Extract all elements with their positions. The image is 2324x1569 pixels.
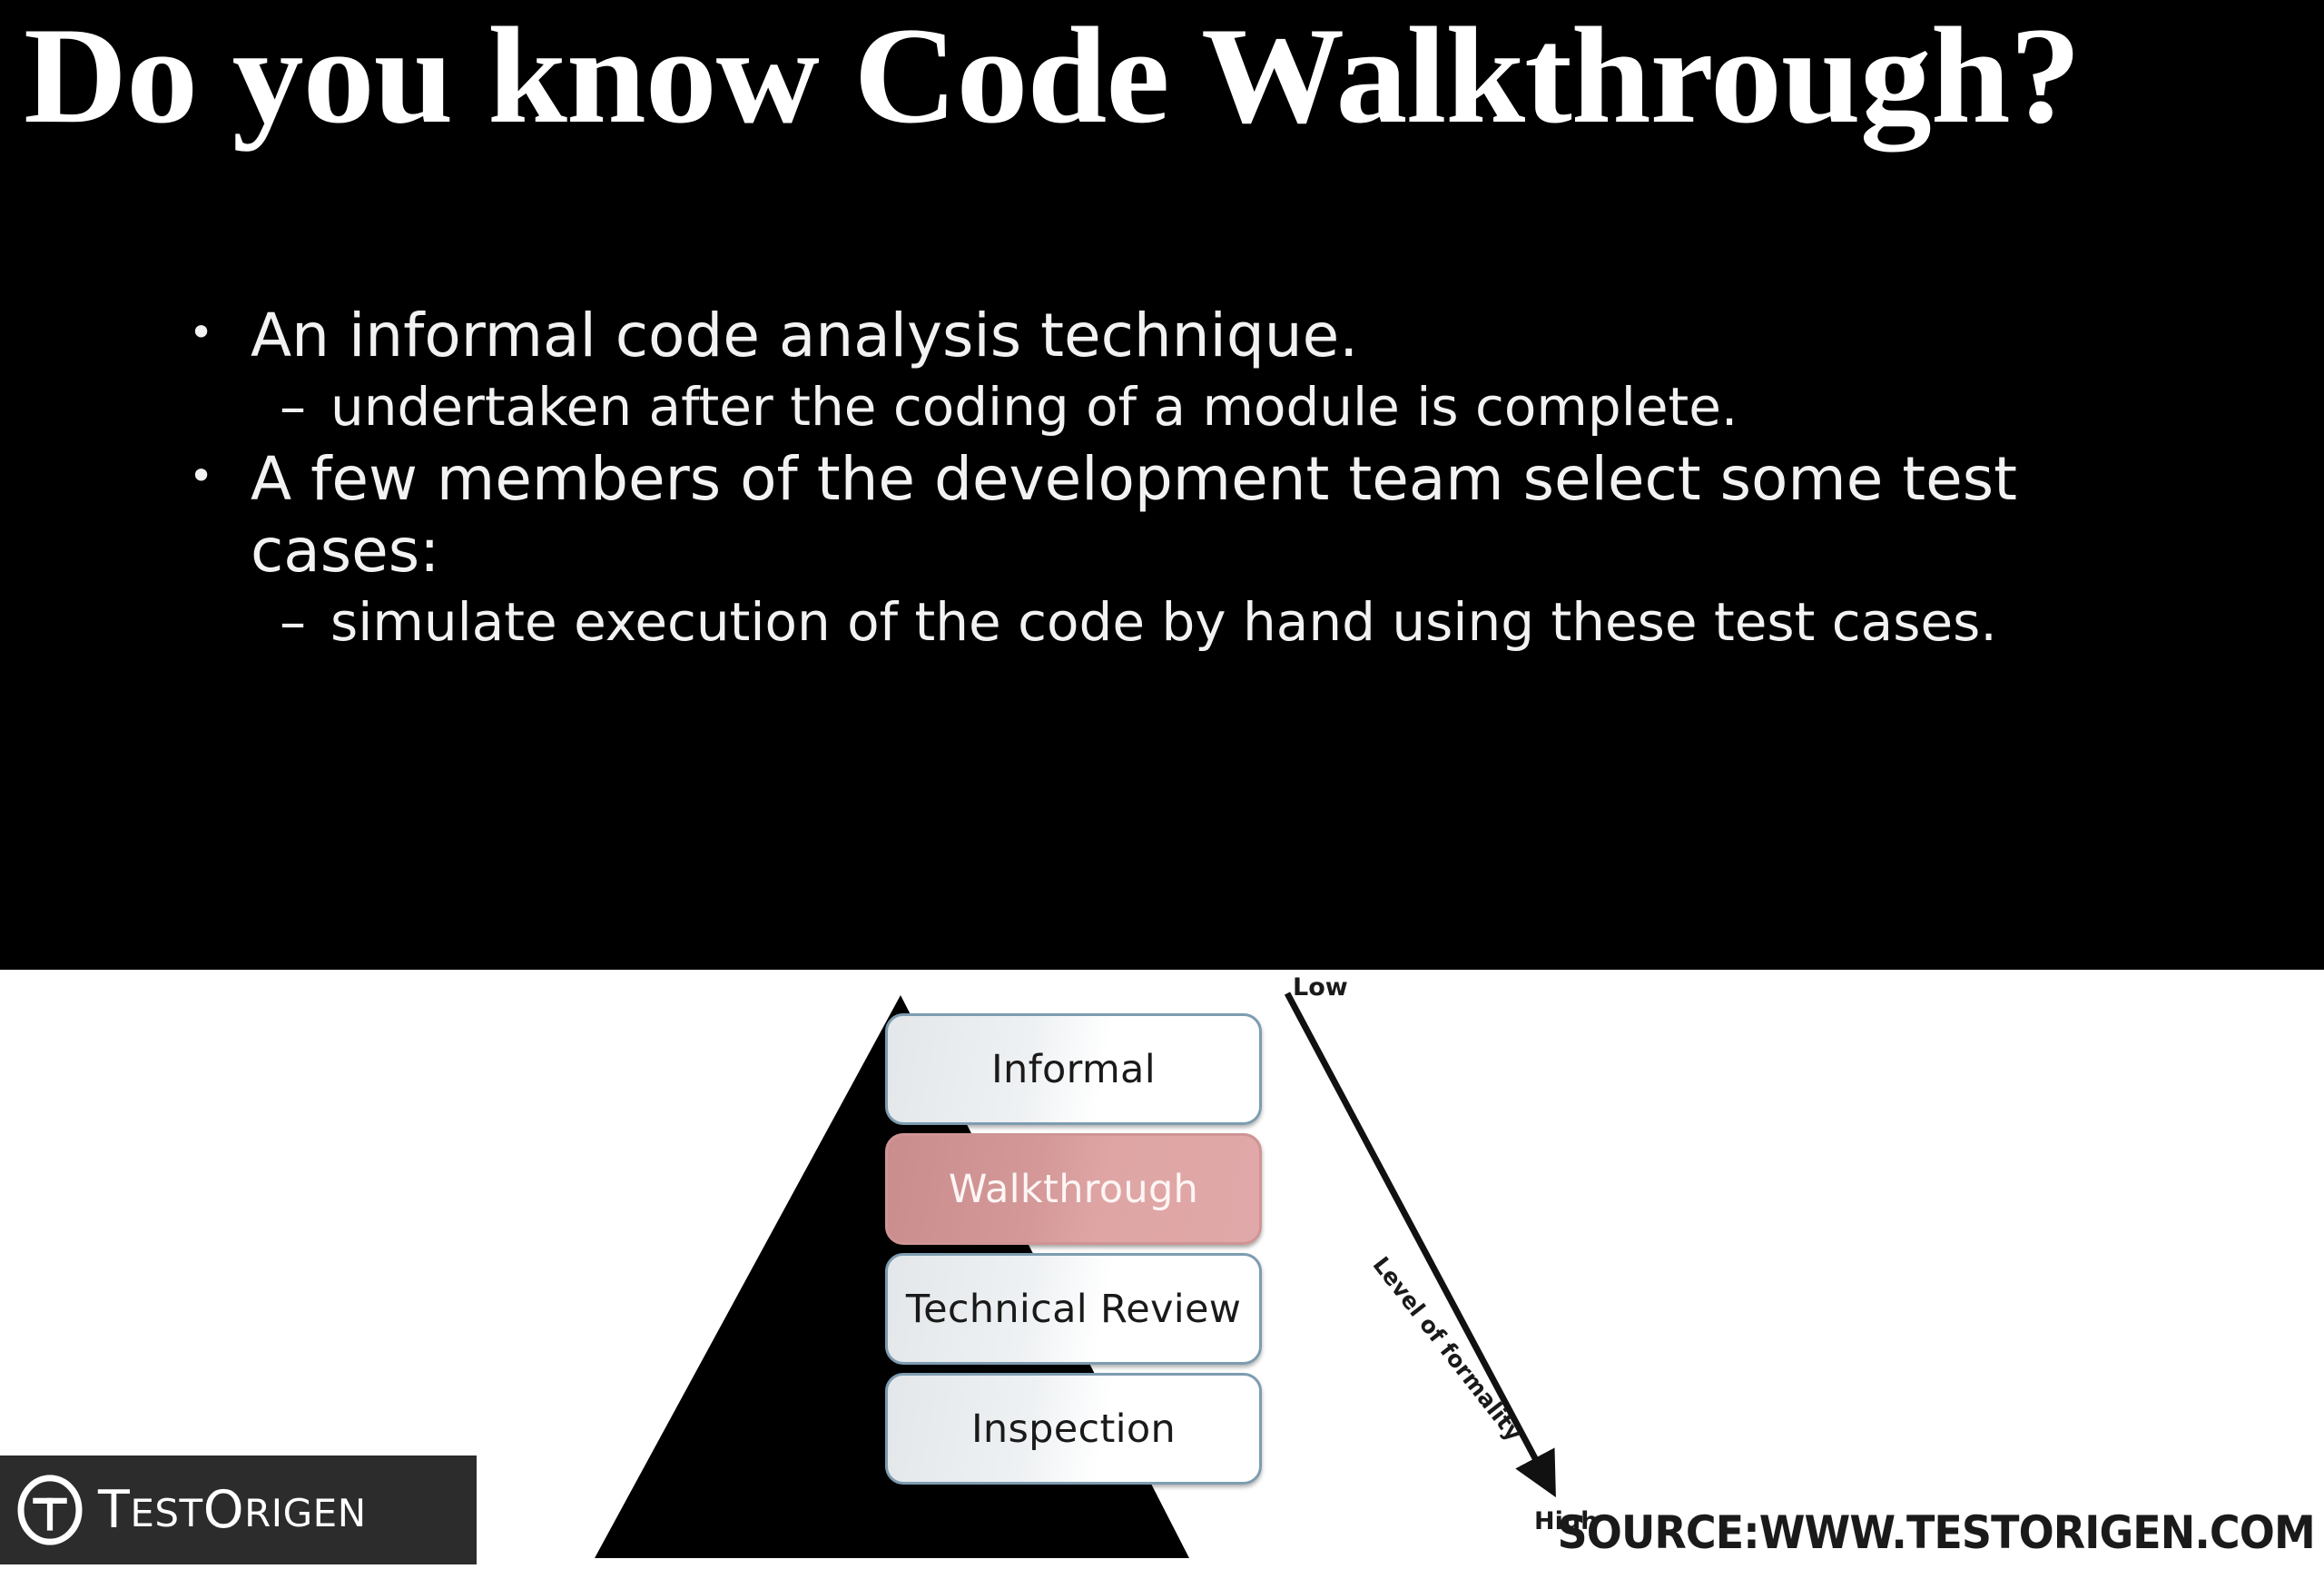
source-attribution: SOURCE:WWW.TESTORIGEN.COM — [1558, 1506, 2315, 1559]
bullet-item-2: – undertaken after the coding of a modul… — [280, 375, 2197, 439]
pyramid-level-label: Technical Review — [906, 1287, 1241, 1332]
logo-t: T — [98, 1480, 130, 1540]
bullet-marker-dot: • — [182, 443, 251, 509]
circled-t-icon — [15, 1475, 85, 1545]
pyramid-level-label: Informal — [991, 1047, 1156, 1092]
brand-logo[interactable]: TESTORIGEN — [0, 1456, 477, 1564]
bullet-text: simulate execution of the code by hand u… — [330, 590, 2197, 655]
pyramid-level-label: Walkthrough — [949, 1167, 1198, 1212]
page-title: Do you know Code Walkthrough? — [24, 5, 2324, 146]
bullet-text: A few members of the development team se… — [251, 443, 2197, 587]
pyramid-level-walkthrough[interactable]: Walkthrough — [885, 1133, 1262, 1245]
pyramid-level-technical-review[interactable]: Technical Review — [885, 1253, 1262, 1365]
bullet-marker-dash: – — [280, 375, 330, 439]
bullet-list: • An informal code analysis technique. –… — [182, 300, 2197, 658]
axis-label-low: Low — [1293, 973, 1348, 1002]
logo-o: O — [203, 1480, 244, 1540]
bullet-item-4: – simulate execution of the code by hand… — [280, 590, 2197, 655]
logo-est: EST — [130, 1491, 202, 1535]
bullet-text: An informal code analysis technique. — [251, 300, 2197, 371]
down-right-arrow-icon — [1262, 970, 1616, 1564]
pyramid-level-inspection[interactable]: Inspection — [885, 1373, 1262, 1485]
bullet-marker-dot: • — [182, 300, 251, 366]
formality-axis: Low Level of formality High — [1262, 970, 1616, 1564]
bullet-item-1: • An informal code analysis technique. — [182, 300, 2197, 371]
dark-content-panel: Do you know Code Walkthrough? • An infor… — [0, 0, 2324, 970]
brand-wordmark: TESTORIGEN — [98, 1485, 367, 1536]
slide-canvas: Do you know Code Walkthrough? • An infor… — [0, 0, 2324, 1564]
logo-rigen: RIGEN — [244, 1491, 367, 1535]
bullet-item-3: • A few members of the development team … — [182, 443, 2197, 587]
bullet-text: undertaken after the coding of a module … — [330, 375, 2197, 439]
pyramid-level-label: Inspection — [971, 1406, 1176, 1452]
bullet-marker-dash: – — [280, 590, 330, 655]
pyramid-level-informal[interactable]: Informal — [885, 1013, 1262, 1125]
